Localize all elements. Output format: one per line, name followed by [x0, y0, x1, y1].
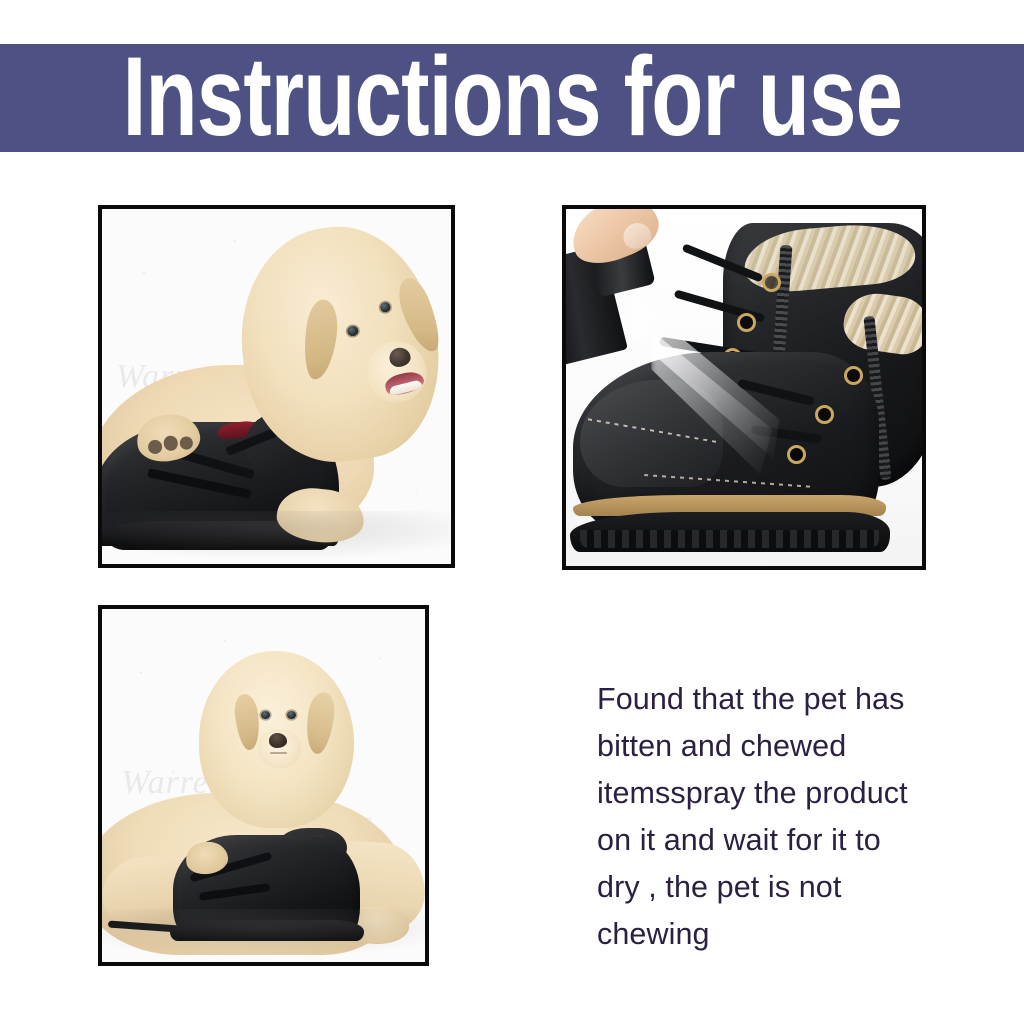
header-banner: Instructions for use	[0, 44, 1024, 152]
boot-eyelet	[737, 313, 756, 332]
paw-pad	[163, 435, 179, 452]
puppy-eye	[261, 711, 270, 719]
instruction-paragraph: Found that the pet has bitten and chewed…	[597, 676, 931, 958]
page-title: Instructions for use	[122, 44, 902, 152]
puppy-eye	[347, 325, 359, 336]
puppy-eye	[287, 711, 296, 719]
puppy-mouth	[270, 752, 287, 754]
puppy-nose	[269, 733, 288, 748]
panel-puppy-not-chewing: Warren Photos	[98, 605, 429, 966]
photo-stage: Warren Photos	[102, 609, 425, 962]
instruction-page: Instructions for use Warren	[0, 0, 1024, 1024]
panel-spray-on-boots	[562, 205, 926, 570]
boot-eyelet	[762, 273, 781, 292]
paw-pad	[179, 436, 193, 451]
boot-eyelet	[787, 445, 806, 464]
puppy-eye	[379, 301, 391, 312]
panel-puppy-chewing-shoe: Warren	[98, 205, 455, 568]
photo-stage	[566, 209, 922, 566]
photo-stage: Warren	[102, 209, 451, 564]
puppy-ear	[301, 298, 340, 380]
boot-tread	[580, 530, 879, 548]
puppy-ear	[303, 690, 338, 755]
boot-eyelet	[844, 366, 863, 385]
puppy-head	[199, 651, 354, 828]
paw-pad	[147, 439, 163, 455]
shoe-sole	[170, 920, 364, 941]
